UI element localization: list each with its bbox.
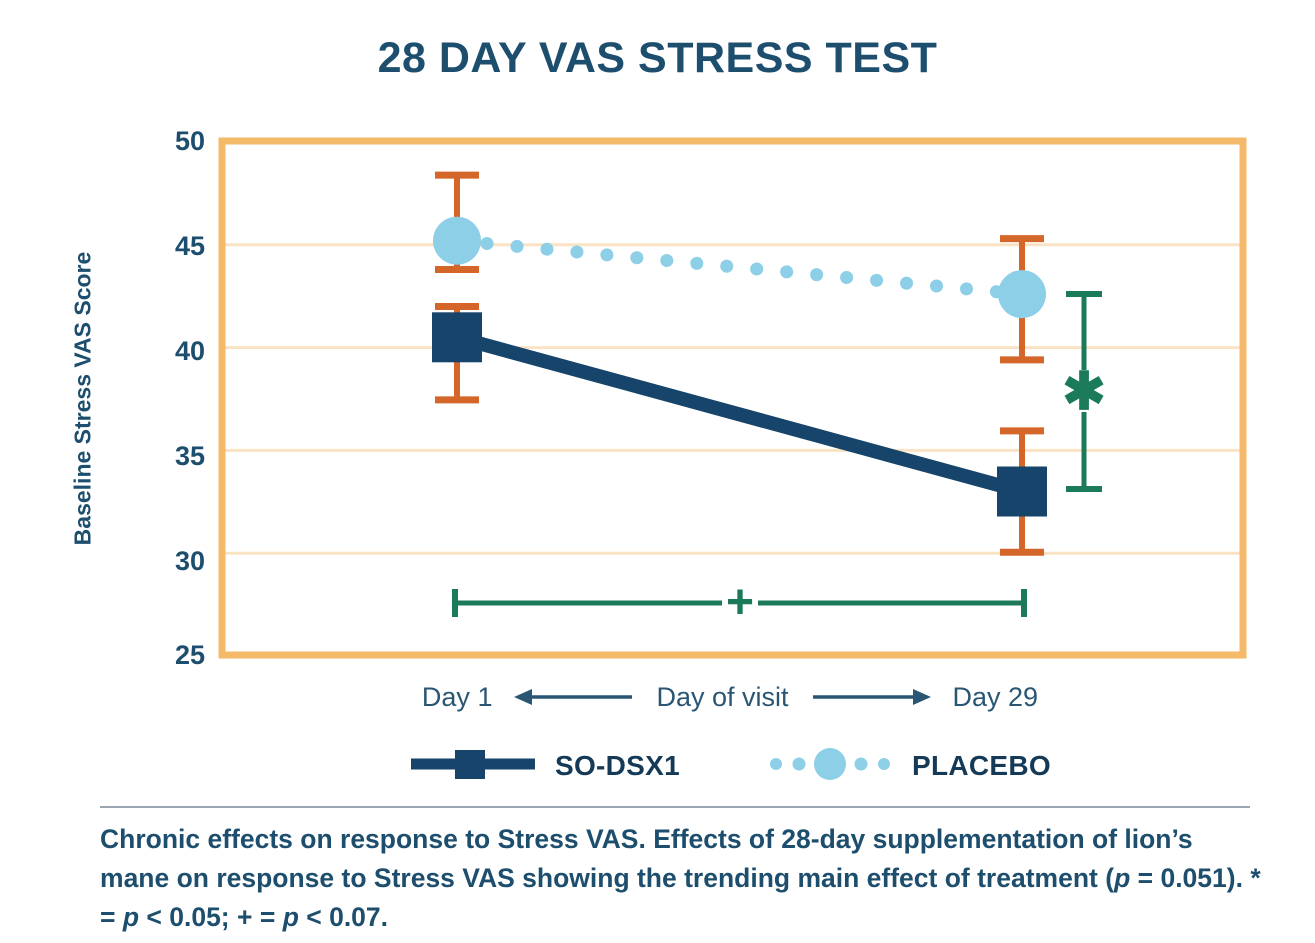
left-arrow-icon: [514, 684, 634, 710]
chart-figure: Baseline Stress VAS Score 50 45 40 35 30…: [0, 0, 1315, 943]
x-label-day29: Day 29: [953, 682, 1039, 713]
plot-area: ✱ +: [0, 0, 1315, 943]
sodsx1-marker-day29: [997, 467, 1047, 517]
asterisk-significance-marker: ✱: [1062, 363, 1106, 421]
caption-line-1: Chronic effects on response to Stress VA…: [100, 824, 1085, 854]
caption-p-italic-2: p: [123, 902, 139, 932]
right-arrow-icon: [811, 684, 931, 710]
chart-legend: SO-DSX1 PLACEBO: [215, 740, 1245, 792]
plus-significance-marker: +: [726, 576, 754, 629]
caption-line-3-c: < 0.05; + =: [139, 902, 283, 932]
placebo-marker-day29: [998, 270, 1046, 318]
legend-swatch-sodsx1-icon: [409, 744, 537, 789]
legend-item-sodsx1: SO-DSX1: [409, 744, 680, 789]
caption-p-italic-3: p: [283, 902, 299, 932]
legend-item-placebo: PLACEBO: [766, 744, 1051, 789]
figure-caption: Chronic effects on response to Stress VA…: [100, 820, 1265, 938]
x-axis-labels: Day 1 Day of visit Day 29: [215, 675, 1245, 719]
placebo-marker-day1: [433, 217, 481, 265]
caption-divider: [100, 806, 1250, 808]
sodsx1-marker-day1: [432, 312, 482, 362]
x-axis-title: Day of visit: [656, 682, 788, 713]
legend-swatch-placebo-icon: [766, 744, 894, 789]
caption-line-3-a: treatment (: [977, 863, 1114, 893]
x-label-day1: Day 1: [422, 682, 493, 713]
legend-label-sodsx1: SO-DSX1: [555, 750, 680, 782]
legend-label-placebo: PLACEBO: [912, 750, 1051, 782]
caption-p-italic-1: p: [1114, 863, 1130, 893]
caption-line-3-d: < 0.07.: [299, 902, 388, 932]
